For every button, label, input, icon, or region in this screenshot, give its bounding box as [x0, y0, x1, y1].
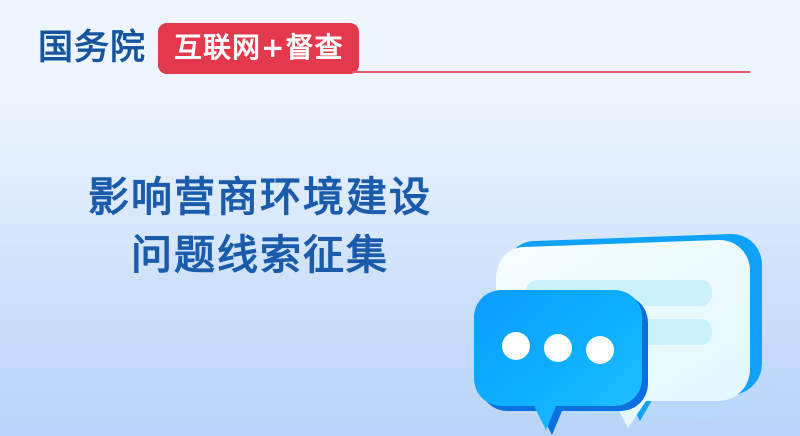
brand-title: 国务院 — [38, 31, 146, 66]
ellipsis-dot-1 — [502, 332, 530, 360]
page-title: 影响营商环境建设 问题线索征集 — [0, 168, 520, 284]
ellipsis-dot-3 — [586, 336, 614, 364]
chat-bubbles-svg — [470, 215, 800, 436]
platform-badge: 互联网+督查 — [158, 23, 359, 74]
ellipsis-dot-2 — [544, 334, 572, 362]
banner-header: 国务院 互联网+督查 — [0, 0, 800, 88]
page-title-line-1: 影响营商环境建设 — [0, 168, 520, 226]
page-title-line-2: 问题线索征集 — [0, 226, 520, 284]
chat-bubbles-illustration — [470, 215, 800, 436]
header-divider-rule — [352, 71, 750, 73]
banner-root: 国务院 互联网+督查 影响营商环境建设 问题线索征集 — [0, 0, 800, 436]
brand-lockup: 国务院 互联网+督查 — [38, 23, 359, 73]
